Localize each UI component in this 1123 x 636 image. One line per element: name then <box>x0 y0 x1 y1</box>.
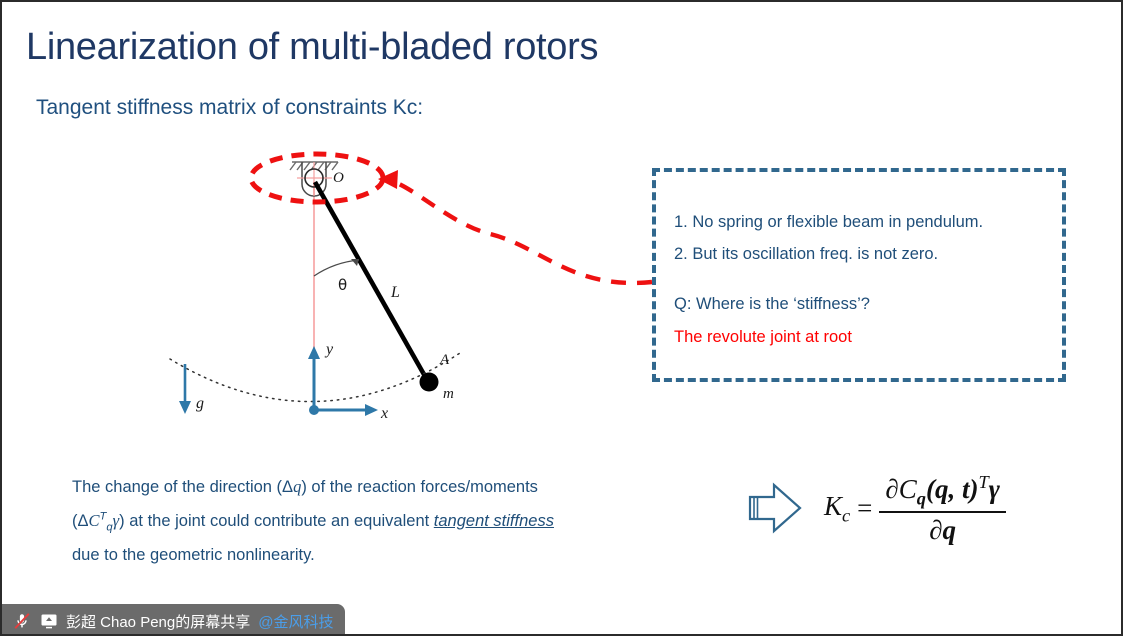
para-line2-a: (Δ <box>72 512 89 530</box>
callout-question: Q: Where is the ‘stiffness’? <box>674 288 1062 320</box>
screen-share-icon[interactable] <box>40 612 58 630</box>
para-line2-b: ) at the joint could contribute an equiv… <box>119 512 434 530</box>
x-axis-label: x <box>380 405 388 422</box>
presentation-slide: Linearization of multi-bladed rotors Tan… <box>0 0 1123 636</box>
origin-marker <box>309 405 319 415</box>
pivot-label: O <box>333 170 344 186</box>
para-line1-a: The change of the direction (Δ <box>72 478 293 496</box>
equation-lhs: Kc <box>824 491 850 526</box>
share-owner-label: 彭超 Chao Peng的屏幕共享 <box>66 611 250 632</box>
gravity-label: g <box>196 395 204 412</box>
callout-item-1: 1. No spring or flexible beam in pendulu… <box>674 206 1062 238</box>
x-axis-arrowhead-icon <box>365 404 378 416</box>
mass-marker <box>420 373 439 392</box>
callout-item-2: 2. But its oscillation freq. is not zero… <box>674 238 1062 270</box>
equation-equals: = <box>857 493 872 524</box>
share-company-label: @金风科技 <box>258 611 333 632</box>
equation-fraction: ∂Cq(q, t)Tγ ∂q <box>879 472 1005 545</box>
coordinate-axes <box>314 354 370 410</box>
equation-denominator: ∂q <box>923 513 962 545</box>
para-C-symbol: C <box>89 511 100 530</box>
block-arrow-icon <box>744 477 806 539</box>
equation-group: Kc = ∂Cq(q, t)Tγ ∂q <box>744 472 1006 545</box>
slide-subtitle: Tangent stiffness matrix of constraints … <box>36 96 423 120</box>
y-axis-arrowhead-icon <box>308 346 320 359</box>
callout-spacer <box>674 270 1062 288</box>
rod-length-label: L <box>390 284 400 301</box>
angle-label: θ <box>338 276 347 294</box>
explanatory-paragraph: The change of the direction (Δq) of the … <box>72 470 692 572</box>
callout-box: 1. No spring or flexible beam in pendulu… <box>652 168 1066 382</box>
equation-numerator: ∂Cq(q, t)Tγ <box>879 472 1005 511</box>
mic-muted-icon[interactable] <box>12 611 32 631</box>
tangent-stiffness-equation: Kc = ∂Cq(q, t)Tγ ∂q <box>824 472 1006 545</box>
gravity-arrow <box>179 364 191 414</box>
angle-arc <box>314 260 359 276</box>
page-title: Linearization of multi-bladed rotors <box>26 26 926 69</box>
para-tangent-stiffness-emphasis: tangent stiffness <box>434 512 554 530</box>
screen-share-status-bar: 彭超 Chao Peng的屏幕共享 @金风科技 <box>2 604 345 636</box>
mass-point-label: A <box>439 352 450 368</box>
mass-label: m <box>443 386 454 402</box>
pendulum-diagram: O θ L A m y x g <box>152 142 512 442</box>
para-line3: due to the geometric nonlinearity. <box>72 546 315 564</box>
angle-arrowhead-icon <box>351 259 359 266</box>
callout-answer: The revolute joint at root <box>674 321 1062 353</box>
y-axis-label: y <box>324 341 334 358</box>
para-line1-b: ) of the reaction forces/moments <box>301 478 538 496</box>
